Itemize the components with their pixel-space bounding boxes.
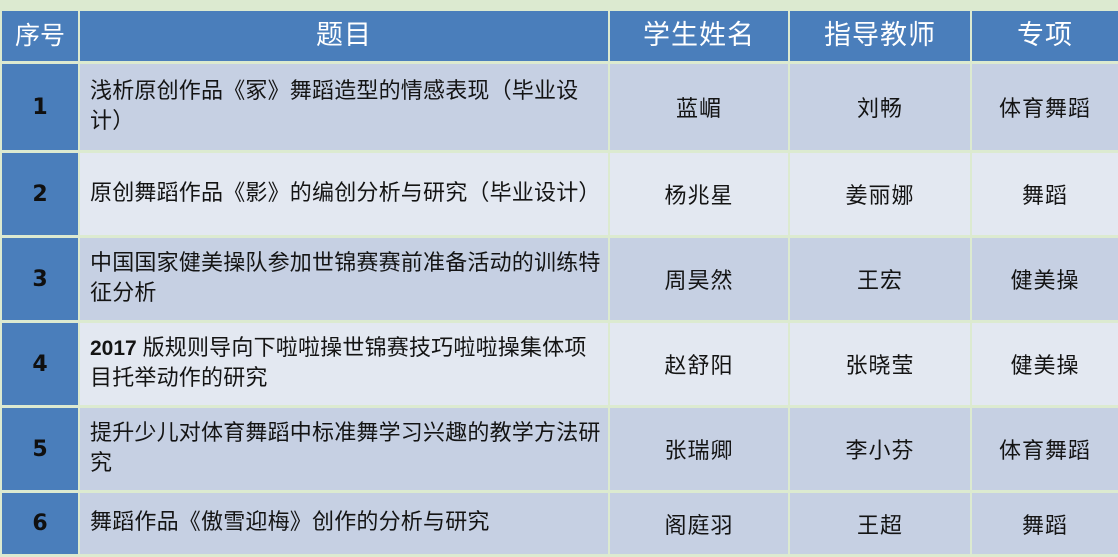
row-teacher-cell: 王超 (790, 493, 970, 554)
column-header-special: 专项 (972, 11, 1118, 61)
table-row: 6 舞蹈作品《傲雪迎梅》创作的分析与研究 阁庭羽 王超 舞蹈 (2, 493, 1118, 554)
row-student-cell: 张瑞卿 (610, 408, 788, 490)
column-header-student: 学生姓名 (610, 11, 788, 61)
row-student-cell: 周昊然 (610, 238, 788, 320)
row-special-cell: 舞蹈 (972, 153, 1118, 235)
row-student-cell: 赵舒阳 (610, 323, 788, 405)
title-number-prefix: 2017 (90, 337, 143, 360)
title-text: 版规则导向下啦啦操世锦赛技巧啦啦操集体项目托举动作的研究 (90, 336, 587, 391)
table-header: 序号 题目 学生姓名 指导教师 专项 (2, 11, 1118, 61)
row-index-cell: 1 (2, 64, 78, 150)
row-student-cell: 杨兆星 (610, 153, 788, 235)
header-row: 序号 题目 学生姓名 指导教师 专项 (2, 11, 1118, 61)
column-header-title: 题目 (80, 11, 608, 61)
title-text: 中国国家健美操队参加世锦赛赛前准备活动的训练特征分析 (90, 251, 601, 306)
row-student-cell: 阁庭羽 (610, 493, 788, 554)
row-index-cell: 4 (2, 323, 78, 405)
row-teacher-cell: 刘畅 (790, 64, 970, 150)
row-index-cell: 2 (2, 153, 78, 235)
thesis-topic-table: 序号 题目 学生姓名 指导教师 专项 1 浅析原创作品《冢》舞蹈造型的情感表现（… (0, 8, 1118, 557)
row-title-cell: 2017 版规则导向下啦啦操世锦赛技巧啦啦操集体项目托举动作的研究 (80, 323, 608, 405)
row-special-cell: 健美操 (972, 238, 1118, 320)
title-text: 浅析原创作品《冢》舞蹈造型的情感表现（毕业设计） (90, 79, 578, 134)
table-row: 2 原创舞蹈作品《影》的编创分析与研究（毕业设计） 杨兆星 姜丽娜 舞蹈 (2, 153, 1118, 235)
row-student-cell: 蓝嵋 (610, 64, 788, 150)
row-title-cell: 原创舞蹈作品《影》的编创分析与研究（毕业设计） (80, 153, 608, 235)
row-title-cell: 中国国家健美操队参加世锦赛赛前准备活动的训练特征分析 (80, 238, 608, 320)
title-text: 舞蹈作品《傲雪迎梅》创作的分析与研究 (90, 510, 490, 535)
column-header-teacher: 指导教师 (790, 11, 970, 61)
row-special-cell: 舞蹈 (972, 493, 1118, 554)
row-special-cell: 健美操 (972, 323, 1118, 405)
title-text: 提升少儿对体育舞蹈中标准舞学习兴趣的教学方法研究 (90, 421, 601, 476)
row-special-cell: 体育舞蹈 (972, 408, 1118, 490)
row-index-cell: 3 (2, 238, 78, 320)
row-index-cell: 5 (2, 408, 78, 490)
table-row: 5 提升少儿对体育舞蹈中标准舞学习兴趣的教学方法研究 张瑞卿 李小芬 体育舞蹈 (2, 408, 1118, 490)
row-teacher-cell: 张晓莹 (790, 323, 970, 405)
page-root: 序号 题目 学生姓名 指导教师 专项 1 浅析原创作品《冢》舞蹈造型的情感表现（… (0, 0, 1118, 535)
row-index-cell: 6 (2, 493, 78, 554)
table-row: 3 中国国家健美操队参加世锦赛赛前准备活动的训练特征分析 周昊然 王宏 健美操 (2, 238, 1118, 320)
table-row: 1 浅析原创作品《冢》舞蹈造型的情感表现（毕业设计） 蓝嵋 刘畅 体育舞蹈 (2, 64, 1118, 150)
column-header-no: 序号 (2, 11, 78, 61)
row-title-cell: 提升少儿对体育舞蹈中标准舞学习兴趣的教学方法研究 (80, 408, 608, 490)
row-teacher-cell: 李小芬 (790, 408, 970, 490)
table-row: 4 2017 版规则导向下啦啦操世锦赛技巧啦啦操集体项目托举动作的研究 赵舒阳 … (2, 323, 1118, 405)
title-text: 原创舞蹈作品《影》的编创分析与研究（毕业设计） (90, 181, 601, 206)
row-teacher-cell: 姜丽娜 (790, 153, 970, 235)
row-title-cell: 舞蹈作品《傲雪迎梅》创作的分析与研究 (80, 493, 608, 554)
row-special-cell: 体育舞蹈 (972, 64, 1118, 150)
table-body: 1 浅析原创作品《冢》舞蹈造型的情感表现（毕业设计） 蓝嵋 刘畅 体育舞蹈 2 … (2, 64, 1118, 554)
row-teacher-cell: 王宏 (790, 238, 970, 320)
row-title-cell: 浅析原创作品《冢》舞蹈造型的情感表现（毕业设计） (80, 64, 608, 150)
